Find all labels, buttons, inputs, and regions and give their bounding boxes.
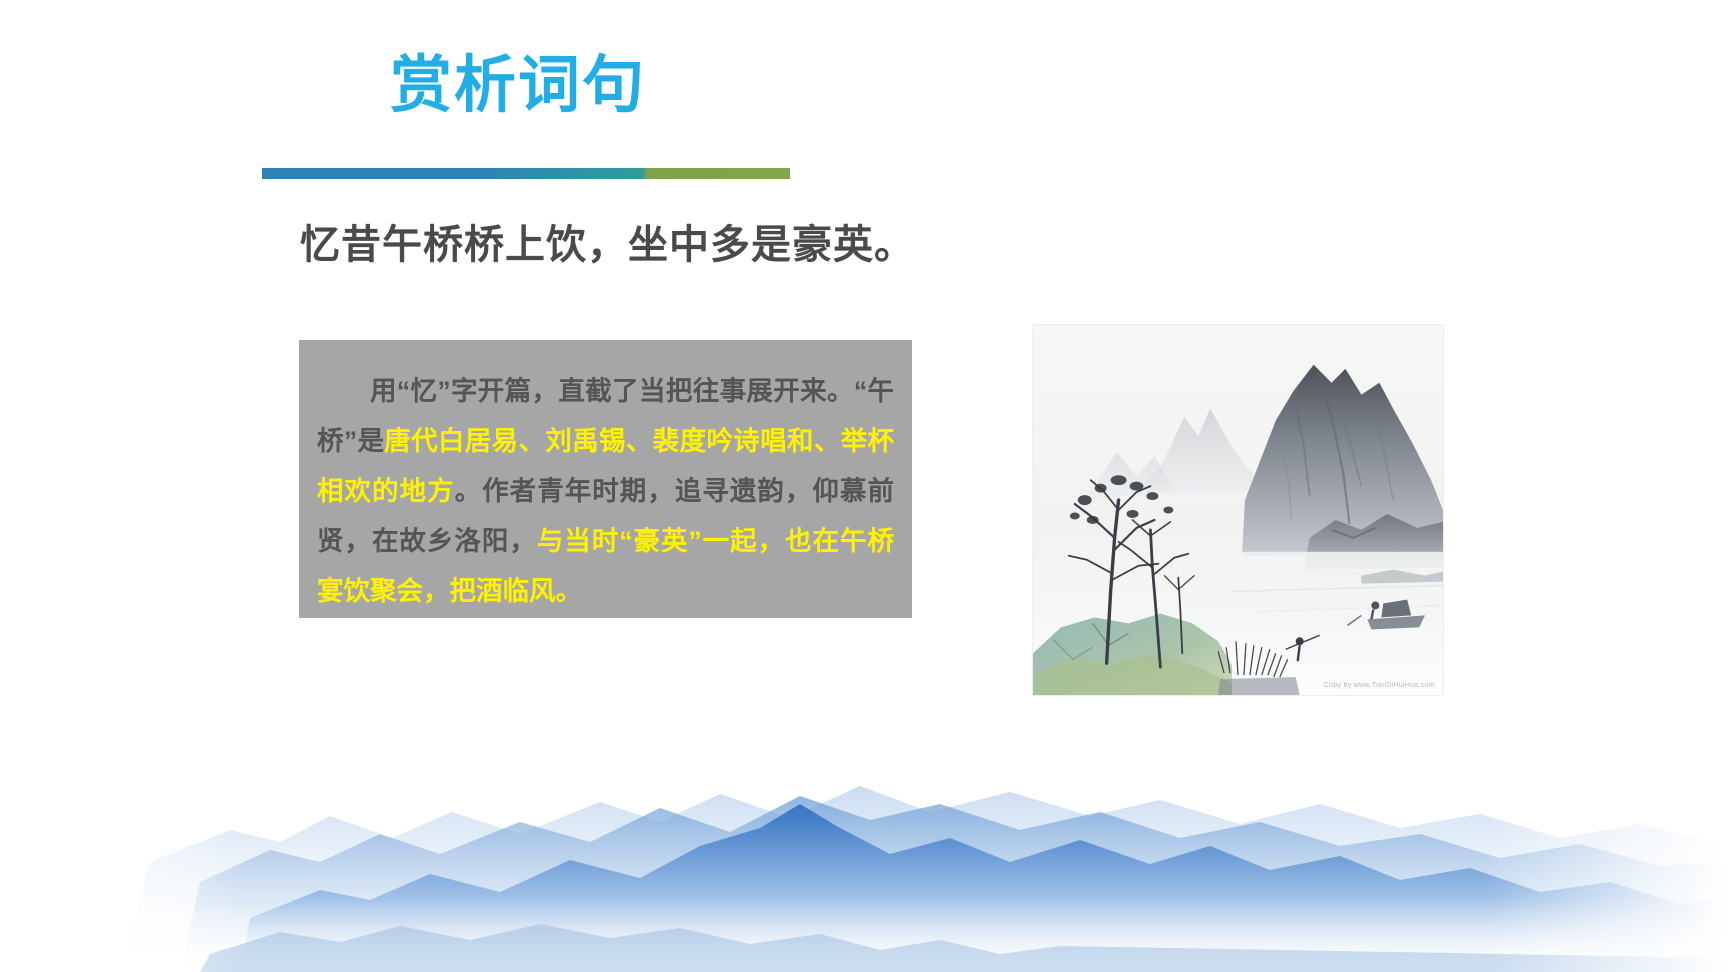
slide-canvas: 赏析词句 忆昔午桥桥上饮，坐中多是豪英。 用“忆”字开篇，直截了当把往事展开来。… [0, 0, 1728, 972]
commentary-text: 用“忆”字开篇，直截了当把往事展开来。“午桥”是唐代白居易、刘禹锡、裴度吟诗唱和… [317, 366, 894, 616]
bottom-mountain-decoration [0, 742, 1728, 972]
commentary-box: 用“忆”字开篇，直截了当把往事展开来。“午桥”是唐代白居易、刘禹锡、裴度吟诗唱和… [299, 340, 912, 618]
landscape-painting-art [1033, 325, 1443, 695]
landscape-painting: Copy by www.TianDiHuiHua.com [1032, 324, 1444, 696]
poem-line: 忆昔午桥桥上饮，坐中多是豪英。 [300, 212, 915, 270]
title-divider [262, 168, 790, 179]
painting-watermark: Copy by www.TianDiHuiHua.com [1324, 682, 1435, 689]
page-title: 赏析词句 [390, 52, 646, 120]
